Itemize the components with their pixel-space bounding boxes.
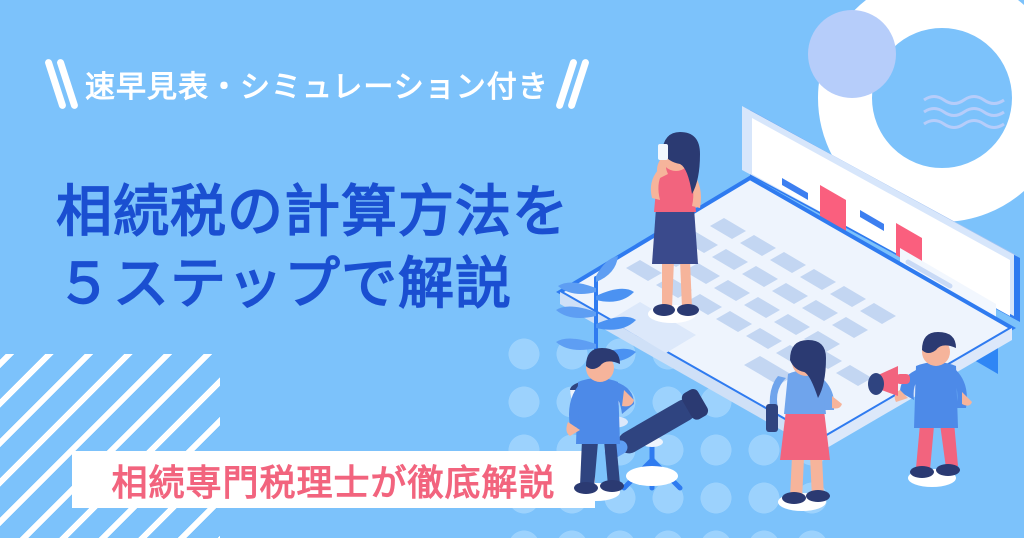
headline-line-1: 相続税の計算方法を — [56, 176, 569, 248]
skirt — [780, 410, 830, 460]
eyebrow-text: 速早見表・シミュレーション付き — [85, 62, 549, 106]
isometric-laptop-illustration — [520, 60, 1024, 538]
double-slash-left-icon — [52, 58, 71, 110]
shirt — [914, 362, 958, 428]
eyebrow-line: 速早見表・シミュレーション付き — [52, 58, 582, 110]
page-title: 相続税の計算方法を ５ステップで解説 — [56, 176, 569, 319]
skirt — [652, 208, 698, 264]
headline-line-2: ５ステップで解説 — [56, 248, 569, 320]
bag — [766, 404, 778, 432]
subtitle-banner: 相続専門税理士が徹底解説 — [72, 451, 595, 508]
subtitle-banner-text: 相続専門税理士が徹底解説 — [111, 454, 555, 506]
diagonal-stripes-decoration — [0, 354, 220, 538]
jacket — [576, 378, 620, 444]
promo-banner: 速早見表・シミュレーション付き 相続税の計算方法を ５ステップで解説 相続専門税… — [0, 0, 1024, 538]
phone — [658, 144, 668, 160]
